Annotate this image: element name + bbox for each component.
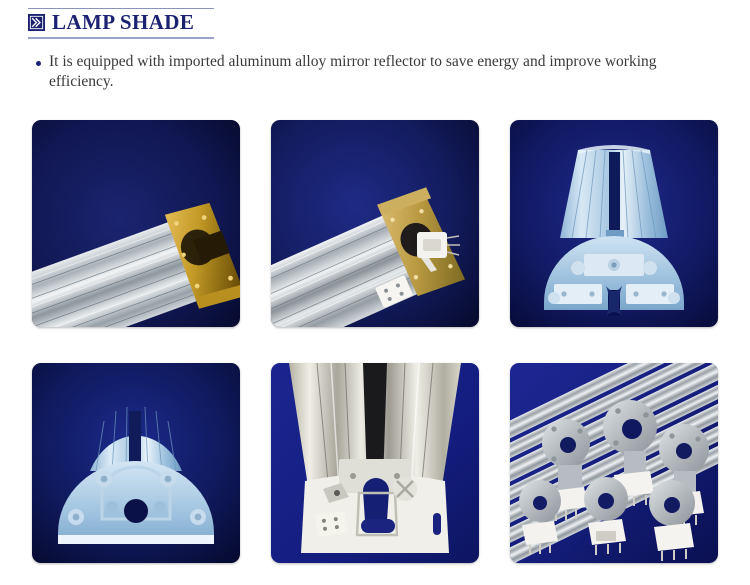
section-header: LAMP SHADE <box>28 8 214 39</box>
product-photo-1[interactable] <box>32 120 240 327</box>
product-photo-6[interactable] <box>510 363 718 563</box>
feature-bullet-text: It is equipped with imported aluminum al… <box>49 52 696 93</box>
product-photo-5-image <box>271 363 479 563</box>
product-photo-5[interactable] <box>271 363 479 563</box>
product-photo-4[interactable] <box>32 363 240 563</box>
header-rule-bottom <box>28 37 214 39</box>
product-photo-2[interactable] <box>271 120 479 327</box>
double-chevron-right-icon <box>28 14 45 31</box>
product-photo-2-image <box>271 120 479 327</box>
product-photo-gallery <box>32 120 718 563</box>
feature-bullet-item: It is equipped with imported aluminum al… <box>36 52 696 93</box>
product-photo-6-image <box>510 363 718 563</box>
bullet-dot-icon <box>36 61 41 66</box>
product-photo-3[interactable] <box>510 120 718 327</box>
header-row: LAMP SHADE <box>28 9 214 35</box>
product-photo-1-image <box>32 120 240 327</box>
page-title: LAMP SHADE <box>52 12 194 33</box>
product-photo-4-image <box>32 363 240 563</box>
product-photo-3-image <box>510 120 718 327</box>
